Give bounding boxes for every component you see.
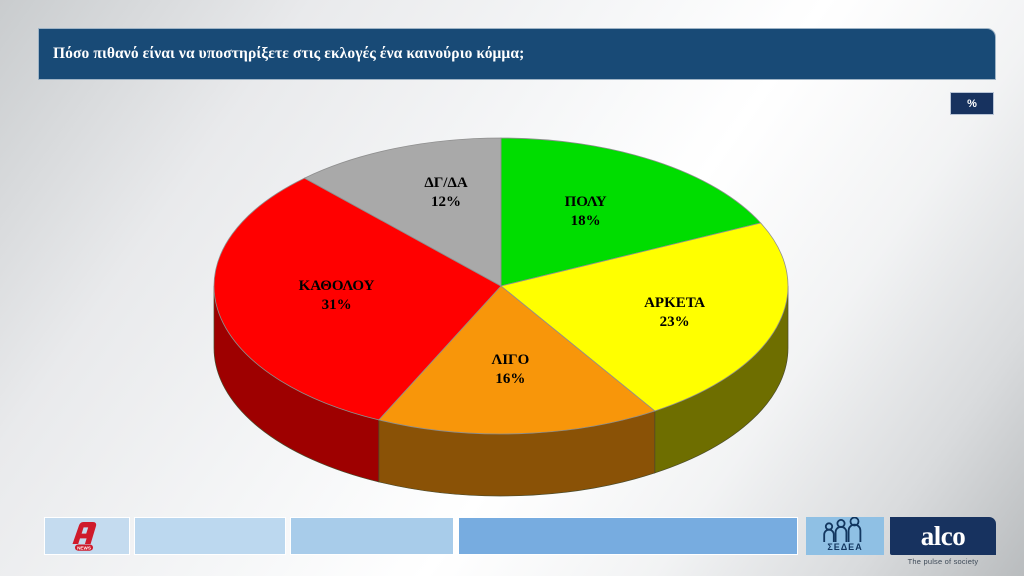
alco-logo: alco [890,517,996,555]
page-title: Πόσο πιθανό είναι να υποστηρίξετε στις ε… [39,45,524,63]
svg-text:NEWS: NEWS [77,545,91,550]
percent-unit-badge: % [950,92,994,115]
pie-chart-svg [196,118,836,498]
pie-top-faces [214,138,788,434]
footer-box-4 [458,517,798,555]
alpha-news-logo-icon: NEWS [66,520,102,552]
sedea-label: ΣΕΔΕΑ [827,542,862,552]
sedea-people-icon [819,517,871,543]
footer-box-3 [290,517,454,555]
alco-tagline: The pulse of society [890,557,996,566]
footer-bar: NEWS ΣΕΔΕΑ alco The pulse of society [0,512,1024,560]
sedea-logo: ΣΕΔΕΑ [806,517,884,555]
footer-box-2 [134,517,286,555]
slide-canvas: Πόσο πιθανό είναι να υποστηρίξετε στις ε… [0,0,1024,576]
alco-wordmark: alco [921,523,966,550]
slide-title-bar: Πόσο πιθανό είναι να υποστηρίξετε στις ε… [38,28,996,80]
pie-chart: ΠΟΛΥ 18% ΑΡΚΕΤΑ 23% ΛΙΓΟ 16% ΚΑΘΟΛΟΥ 31%… [196,118,836,498]
